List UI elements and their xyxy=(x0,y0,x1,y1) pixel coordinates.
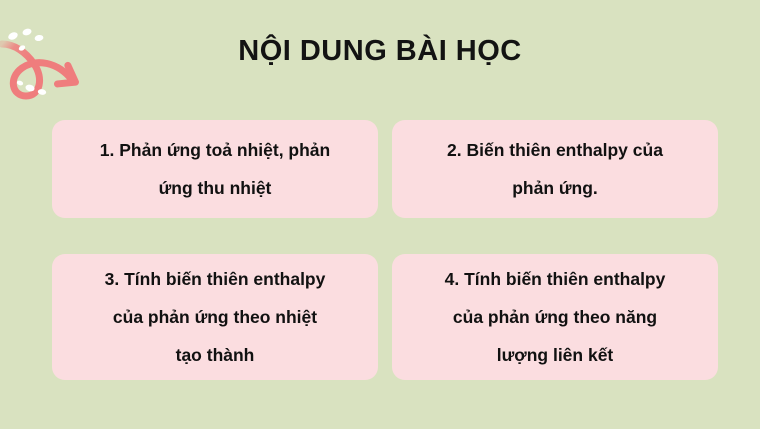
topic-card-1[interactable]: 1. Phản ứng toả nhiệt, phản ứng thu nhiệ… xyxy=(52,120,378,218)
lesson-content-slide: NỘI DUNG BÀI HỌC 1. Phản ứng toả nhiệt, … xyxy=(0,0,760,429)
topic-card-grid: 1. Phản ứng toả nhiệt, phản ứng thu nhiệ… xyxy=(52,120,718,380)
topic-card-2[interactable]: 2. Biến thiên enthalpy của phản ứng. xyxy=(392,120,718,218)
topic-card-3[interactable]: 3. Tính biến thiên enthalpy của phản ứng… xyxy=(52,254,378,380)
topic-card-1-label: 1. Phản ứng toả nhiệt, phản ứng thu nhiệ… xyxy=(100,131,330,207)
topic-card-4-label: 4. Tính biến thiên enthalpy của phản ứng… xyxy=(445,260,666,374)
topic-card-4[interactable]: 4. Tính biến thiên enthalpy của phản ứng… xyxy=(392,254,718,380)
topic-card-3-label: 3. Tính biến thiên enthalpy của phản ứng… xyxy=(105,260,326,374)
page-title: NỘI DUNG BÀI HỌC xyxy=(0,36,760,68)
topic-card-2-label: 2. Biến thiên enthalpy của phản ứng. xyxy=(447,131,663,207)
